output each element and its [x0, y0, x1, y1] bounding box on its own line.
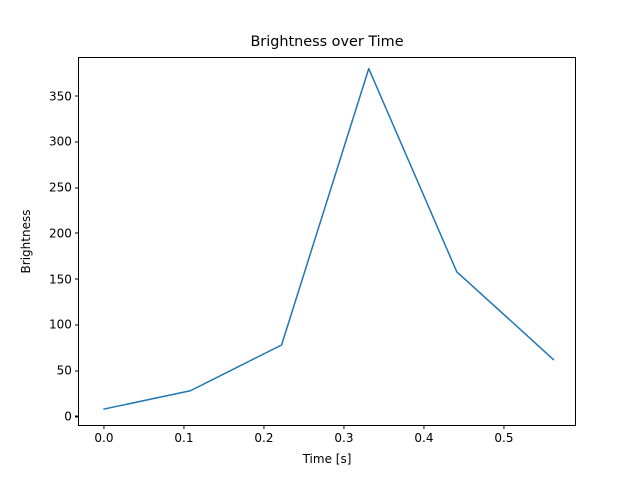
y-tick-100: 100 [49, 314, 79, 333]
y-tick-150: 150 [49, 269, 79, 288]
x-axis-label: Time [s] [78, 452, 576, 466]
y-tick-250: 250 [49, 177, 79, 196]
x-tick-0.5: 0.5 [494, 425, 513, 444]
x-tick-0.1: 0.1 [174, 425, 193, 444]
y-tick-label: 100 [49, 319, 75, 331]
y-tick-label: 200 [49, 227, 75, 239]
x-tick-0.4: 0.4 [414, 425, 433, 444]
x-tick-label: 0.2 [254, 429, 273, 445]
y-tick-350: 350 [49, 86, 79, 105]
data-line-svg [79, 58, 577, 427]
y-tick-mark [75, 141, 79, 142]
y-tick-mark [75, 96, 79, 97]
y-tick-label: 50 [57, 365, 76, 377]
x-tick-label: 0.1 [174, 429, 193, 445]
y-tick-mark [75, 416, 79, 417]
x-tick-label: 0.3 [334, 429, 353, 445]
plot-area: 050100150200250300350 0.00.10.20.30.40.5 [78, 57, 576, 426]
y-tick-mark [75, 233, 79, 234]
y-tick-200: 200 [49, 223, 79, 242]
y-tick-label: 350 [49, 90, 75, 102]
x-tick-0.3: 0.3 [334, 425, 353, 444]
x-tick-label: 0.0 [94, 429, 113, 445]
y-tick-label: 150 [49, 273, 75, 285]
y-tick-0: 0 [64, 406, 79, 425]
y-tick-300: 300 [49, 131, 79, 150]
chart-title: Brightness over Time [78, 33, 576, 51]
y-axis-label: Brightness [18, 57, 34, 426]
x-tick-label: 0.4 [414, 429, 433, 445]
y-tick-label: 250 [49, 182, 75, 194]
y-tick-mark [75, 187, 79, 188]
x-tick-0.2: 0.2 [254, 425, 273, 444]
y-tick-label: 0 [64, 410, 75, 422]
y-tick-label: 300 [49, 136, 75, 148]
y-tick-50: 50 [57, 360, 79, 379]
chart-figure: Brightness over Time 0501001502002503003… [0, 0, 640, 480]
brightness-line-series [104, 69, 554, 409]
y-tick-mark [75, 324, 79, 325]
x-tick-0.0: 0.0 [94, 425, 113, 444]
y-tick-mark [75, 370, 79, 371]
x-tick-label: 0.5 [494, 429, 513, 445]
y-tick-mark [75, 279, 79, 280]
